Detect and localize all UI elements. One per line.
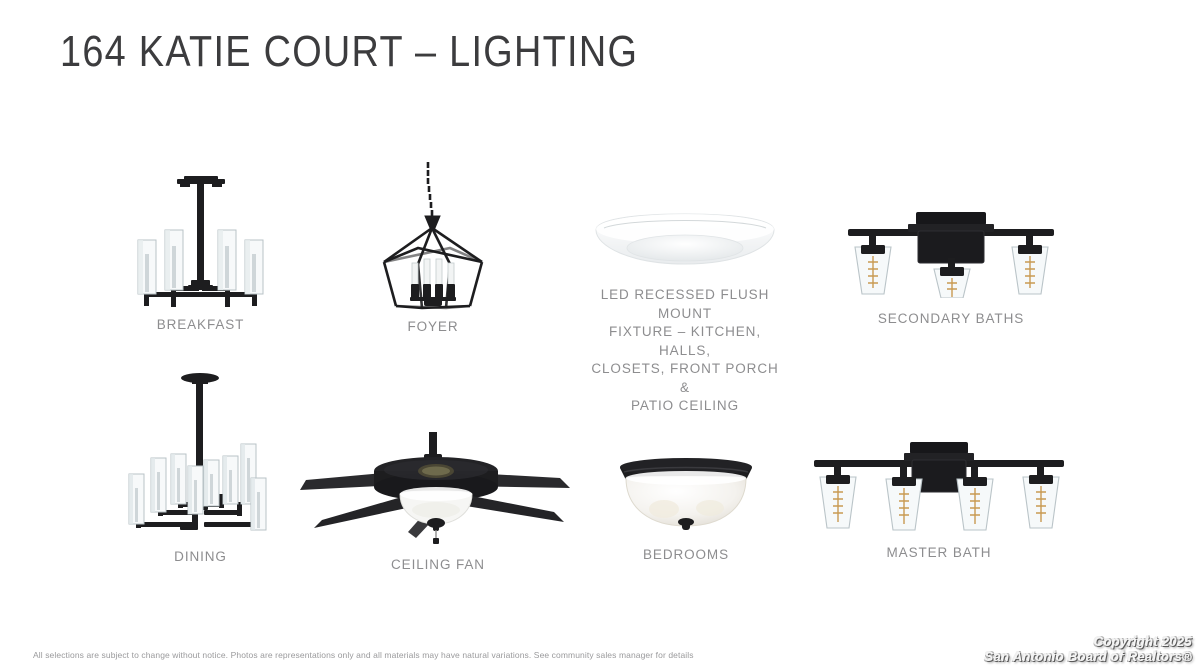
fixture-caption: BREAKFAST: [118, 316, 283, 335]
fixture-caption: SECONDARY BATHS: [840, 310, 1062, 329]
vanity-light-4-bulb-icon: [806, 424, 1072, 536]
fixture-card-secondary-baths[interactable]: SECONDARY BATHS: [840, 198, 1062, 329]
led-recessed-disc-icon: [590, 210, 780, 272]
fixture-caption: BEDROOMS: [606, 546, 766, 565]
flush-mount-dome-icon: [606, 446, 766, 536]
fixture-card-foyer[interactable]: FOYER: [362, 160, 504, 337]
fixture-card-bedrooms[interactable]: BEDROOMS: [606, 446, 766, 565]
chandelier-8-light-cylinder-icon: [118, 370, 283, 542]
fixture-grid: BREAKFAST: [0, 0, 1198, 672]
copyright-watermark: Copyright 2025 San Antonio Board of Real…: [985, 634, 1192, 664]
lantern-cage-pendant-icon: [362, 160, 504, 310]
fixture-caption: FOYER: [362, 318, 504, 337]
fixture-caption: MASTER BATH: [806, 544, 1072, 563]
fixture-card-ceiling-fan[interactable]: CEILING FAN: [288, 428, 588, 575]
disclaimer-text: All selections are subject to change wit…: [33, 650, 694, 660]
watermark-line-1: Copyright 2025: [985, 634, 1192, 649]
watermark-line-2: San Antonio Board of Realtors®: [985, 649, 1192, 664]
fixture-card-master-bath[interactable]: MASTER BATH: [806, 424, 1072, 563]
chandelier-4-light-cylinder-icon: [118, 168, 283, 308]
vanity-light-3-bulb-icon: [840, 198, 1062, 298]
fixture-caption: CEILING FAN: [288, 556, 588, 575]
fixture-card-dining[interactable]: DINING: [118, 370, 283, 567]
fixture-card-led-flush-mount[interactable]: LED RECESSED FLUSH MOUNT FIXTURE – KITCH…: [590, 210, 780, 416]
fixture-caption: LED RECESSED FLUSH MOUNT FIXTURE – KITCH…: [590, 286, 780, 416]
fixture-caption: DINING: [118, 548, 283, 567]
ceiling-fan-5-blade-icon: [288, 428, 588, 544]
presentation-slide: 164 KATIE COURT – LIGHTING: [0, 0, 1198, 672]
fixture-card-breakfast[interactable]: BREAKFAST: [118, 168, 283, 335]
